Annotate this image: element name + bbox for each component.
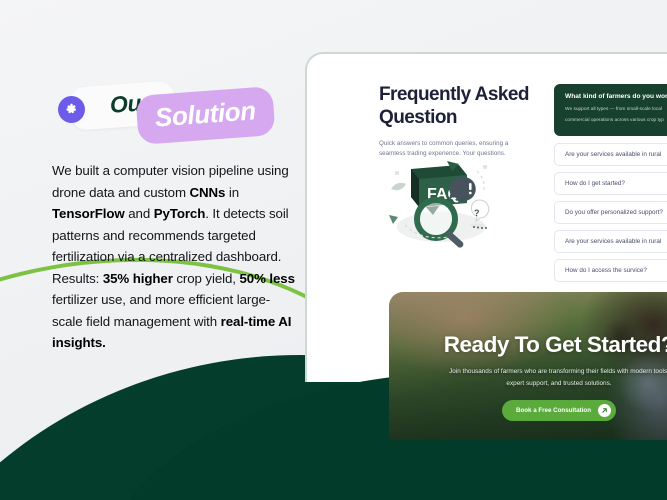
svg-text:?: ? (474, 208, 480, 218)
faq-accordion-item[interactable]: How do I get started? (554, 172, 667, 195)
faq-accordion-item[interactable]: How do I access the survice? (554, 259, 667, 282)
faq-accordion: What kind of farmers do you work We supp… (554, 84, 667, 288)
faq-answer-line-1: We support all types — from small-scale … (565, 106, 667, 115)
faq-accordion-item[interactable]: Do you offer personalized support? (554, 201, 667, 224)
solution-badge-group: Our Solution (52, 80, 300, 142)
faq-accordion-item[interactable]: Are your services available in rural (554, 143, 667, 166)
cta-heading: Ready To Get Started? (415, 332, 667, 358)
arrow-up-right-icon (598, 404, 611, 417)
cta-paragraph: Join thousands of farmers who are transf… (445, 366, 667, 390)
solution-text-column: Our Solution We built a computer vision … (52, 80, 300, 354)
faq-answer-line-2: commercial operations across various cro… (565, 117, 667, 126)
solution-paragraph: We built a computer vision pipeline usin… (52, 160, 300, 354)
book-consultation-label: Book a Free Consultation (516, 407, 591, 414)
headline-pill: Solution (135, 86, 275, 145)
headline-pill-label: Solution (154, 95, 257, 132)
faq-accordion-item-open[interactable]: What kind of farmers do you work We supp… (554, 84, 667, 136)
faq-accordion-item[interactable]: Are your services available in rural (554, 230, 667, 253)
faq-question-open: What kind of farmers do you work (565, 93, 667, 100)
faq-subtitle: Quick answers to common queries, ensurin… (379, 139, 531, 161)
cta-text-block: Ready To Get Started? Join thousands of … (389, 332, 667, 390)
faq-magnifying-glass-illustration: FAQ ? (381, 159, 499, 251)
book-consultation-button[interactable]: Book a Free Consultation (502, 400, 616, 421)
faq-heading: Frequently Asked Question (379, 84, 539, 130)
cta-banner-card: Ready To Get Started? Join thousands of … (389, 292, 667, 440)
faq-section: Frequently Asked Question Quick answers … (379, 84, 667, 160)
flower-asterisk-icon (58, 96, 85, 123)
